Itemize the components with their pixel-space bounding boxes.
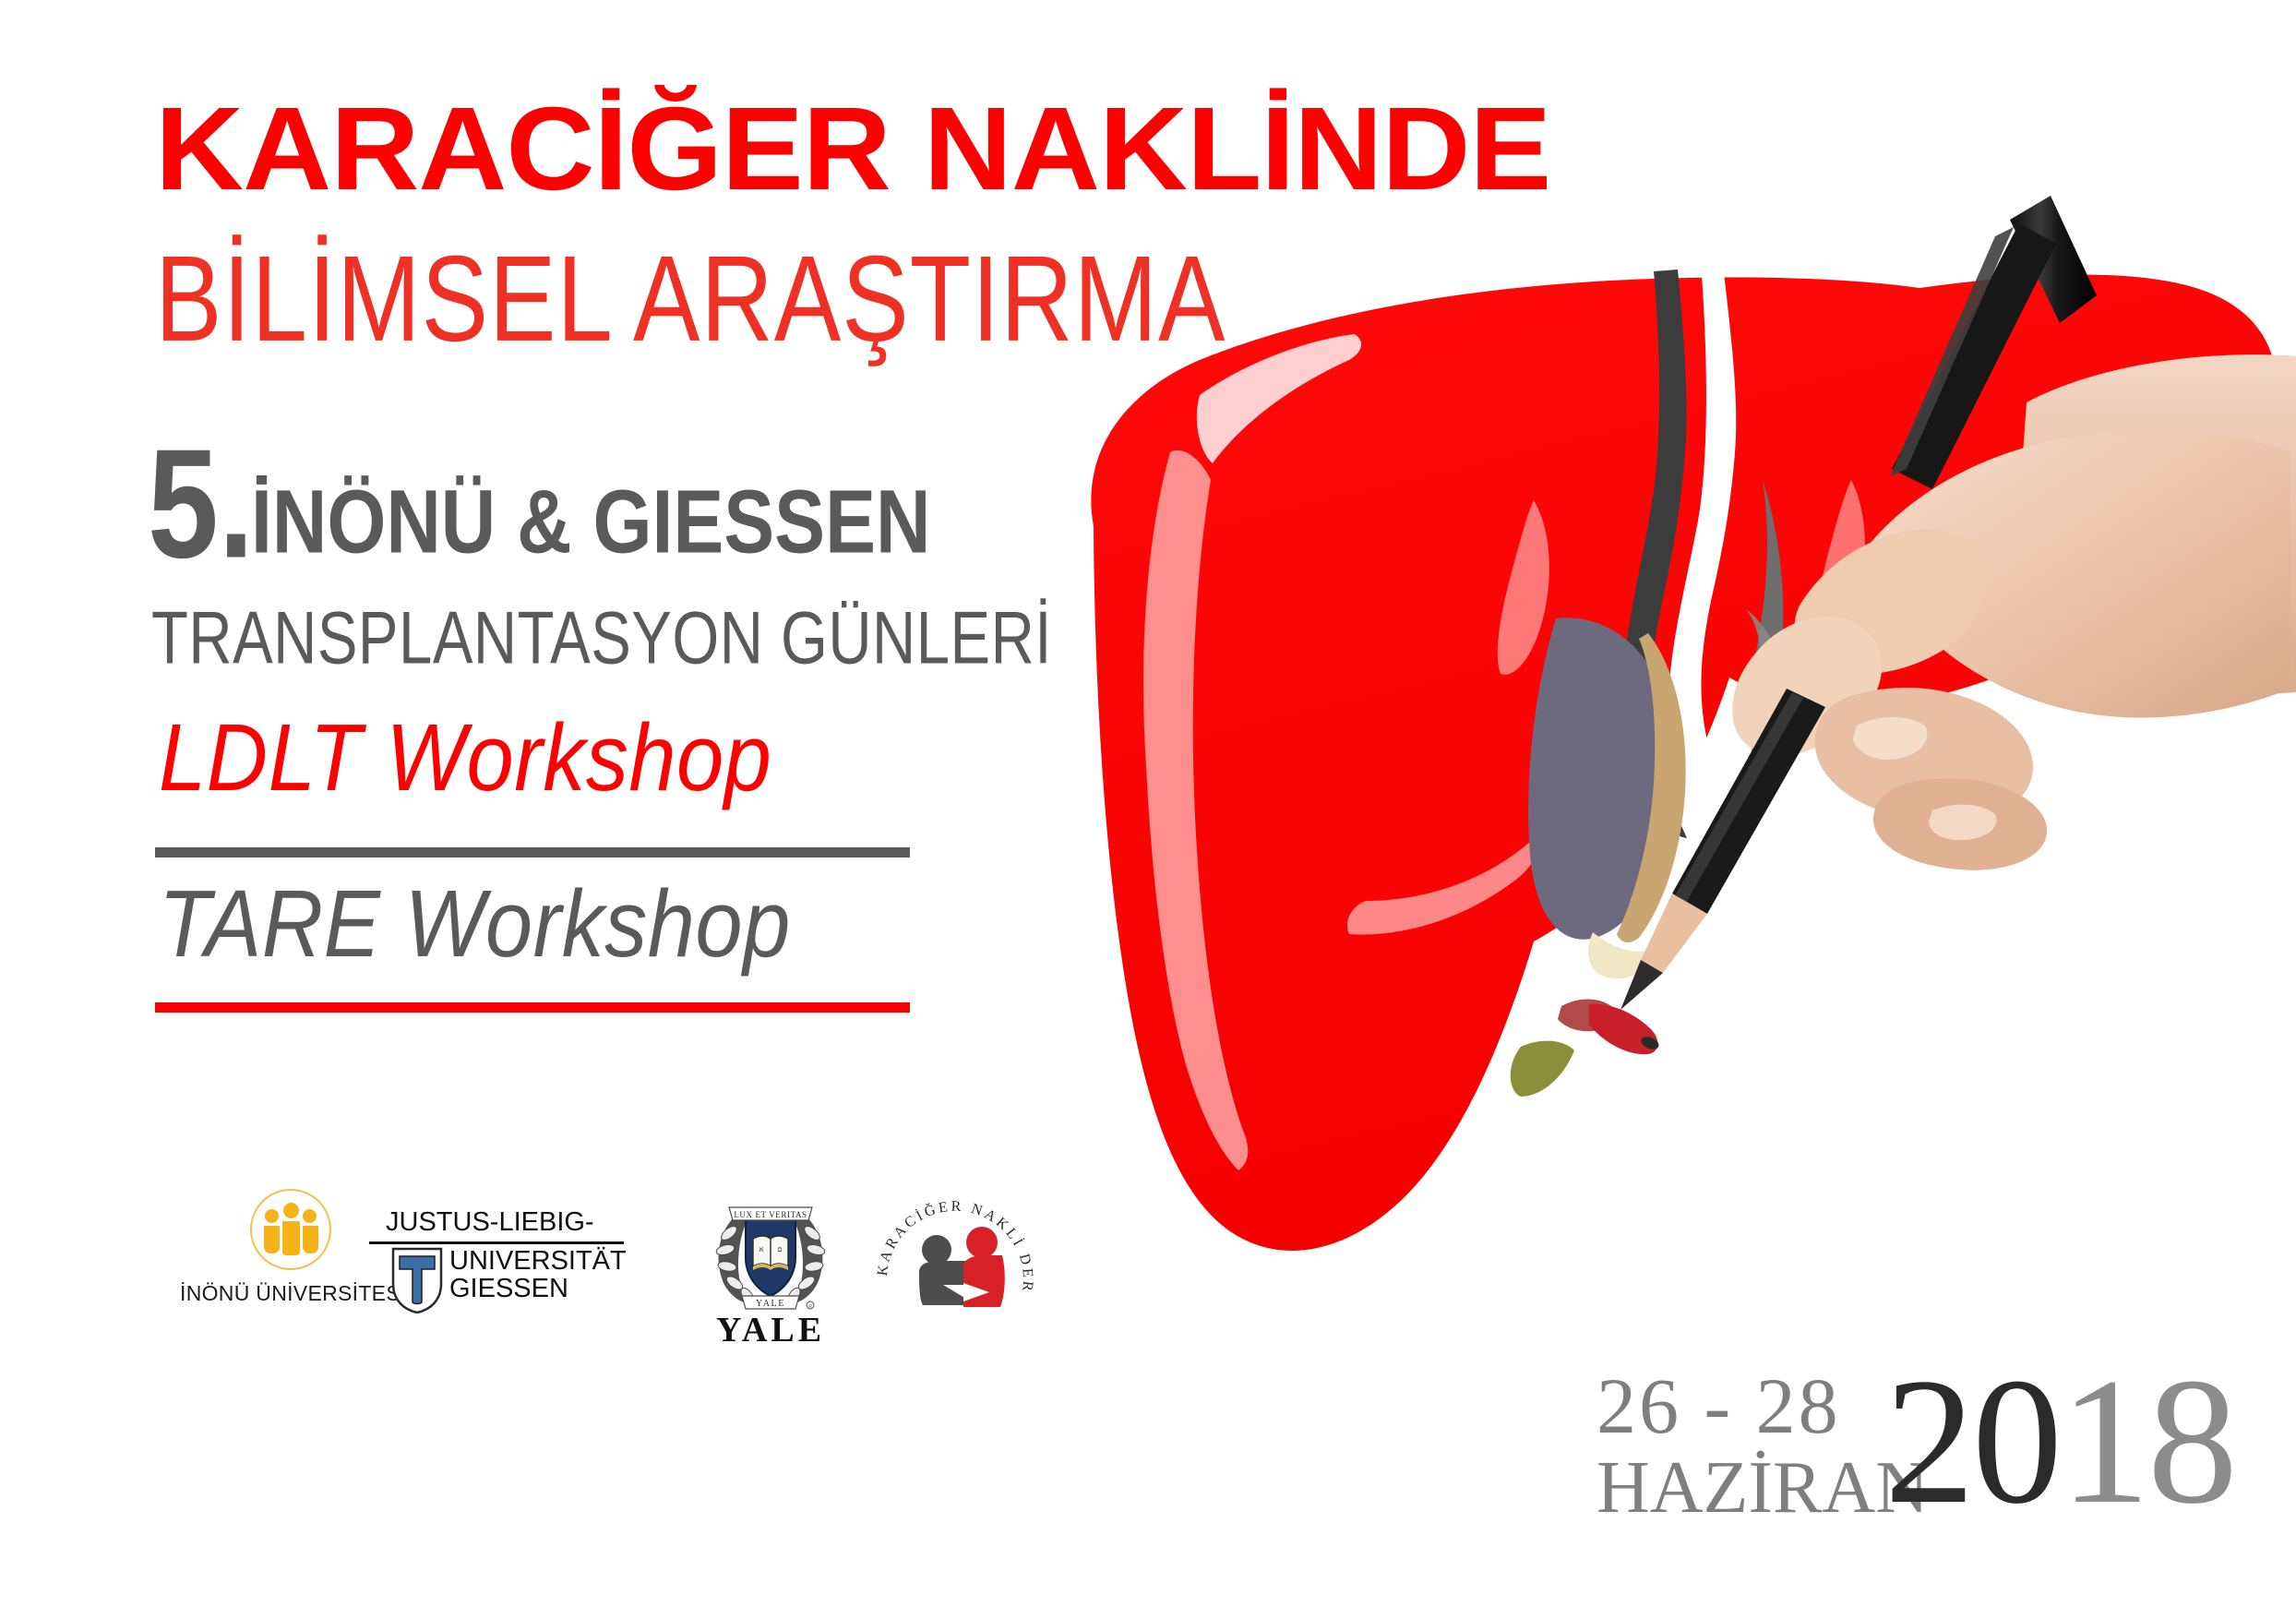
yale-wordmark: YALE [701, 1310, 840, 1350]
event-date-year-part2: 18 [2060, 1341, 2235, 1541]
logo-giessen-line3: GIESSEN [449, 1276, 627, 1303]
workshop-tare-label: TARE Workshop [159, 877, 791, 972]
liver-shape [1091, 275, 2277, 1251]
yale-motto-text: LUX ET VERITAS [734, 1210, 807, 1219]
svg-text:א: א [759, 1245, 764, 1253]
logo-giessen-line2: UNIVERSITÄT [449, 1248, 627, 1276]
event-ordinal: 5. [148, 426, 254, 582]
event-date-month: HAZİRAN [1596, 1451, 1929, 1525]
workshop-ldlt-rule [155, 847, 910, 857]
svg-text:ם: ם [778, 1245, 783, 1253]
poster-canvas: KARACİĞER NAKLİNDE BİLİMSEL ARAŞTIRMA 5.… [0, 0, 2296, 1619]
poster-title-line-2: BİLİMSEL ARAŞTIRMA [155, 238, 1226, 360]
logo-giessen-line1: JUSTUS-LIEBIG- [369, 1207, 674, 1238]
event-name: İNÖNÜ & GIESSEN [251, 476, 930, 566]
logo-justus-liebig-universitaet: JUSTUS-LIEBIG- UNIVERSITÄT GIESSEN [369, 1207, 674, 1313]
workshop-tare-rule [155, 1002, 910, 1013]
event-date-year: 2018 [1884, 1351, 2235, 1532]
logo-inonu-universitesi: İNÖNÜ ÜNİVERSİTESİ [180, 1189, 401, 1306]
workshop-ldlt-label: LDLT Workshop [159, 711, 771, 806]
sponsor-logos-row: İNÖNÜ ÜNİVERSİTESİ JUSTUS-LIEBIG- UNIVER… [92, 1181, 1070, 1357]
event-date-days: 26 - 28 [1596, 1366, 1929, 1445]
event-date-year-part1: 20 [1884, 1341, 2060, 1541]
event-date-left: 26 - 28 HAZİRAN [1596, 1366, 1929, 1525]
logo-giessen-textblock: UNIVERSITÄT GIESSEN [449, 1247, 627, 1302]
dernek-emblem-icon: KARACİĞER NAKLİ DERNEĞİ [867, 1183, 1043, 1349]
liver-fissure [1623, 270, 1788, 838]
liver-artwork [1061, 175, 2296, 1320]
hepatic-vessels [1511, 1000, 1661, 1097]
logo-yale-university: א ם LUX ET VERITAS YALE R YALE [701, 1181, 840, 1352]
hand-holding-pencil [1620, 196, 2296, 1010]
inonu-emblem-icon [250, 1189, 331, 1270]
event-subtitle: TRANSPLANTASYON GÜNLERİ [151, 600, 1052, 675]
yale-crest-icon: א ם LUX ET VERITAS YALE R [701, 1181, 840, 1320]
gallbladder [1528, 618, 1686, 978]
logo-giessen-divider [369, 1241, 624, 1244]
poster-title-line-1: KARACİĞER NAKLİNDE [155, 90, 1550, 209]
giessen-shield-icon [391, 1247, 443, 1313]
yale-ribbon-text: YALE [756, 1299, 785, 1309]
logo-karaciger-nakli-dernegi: KARACİĞER NAKLİ DERNEĞİ [867, 1183, 1043, 1349]
logo-inonu-label: İNÖNÜ ÜNİVERSİTESİ [180, 1281, 401, 1306]
